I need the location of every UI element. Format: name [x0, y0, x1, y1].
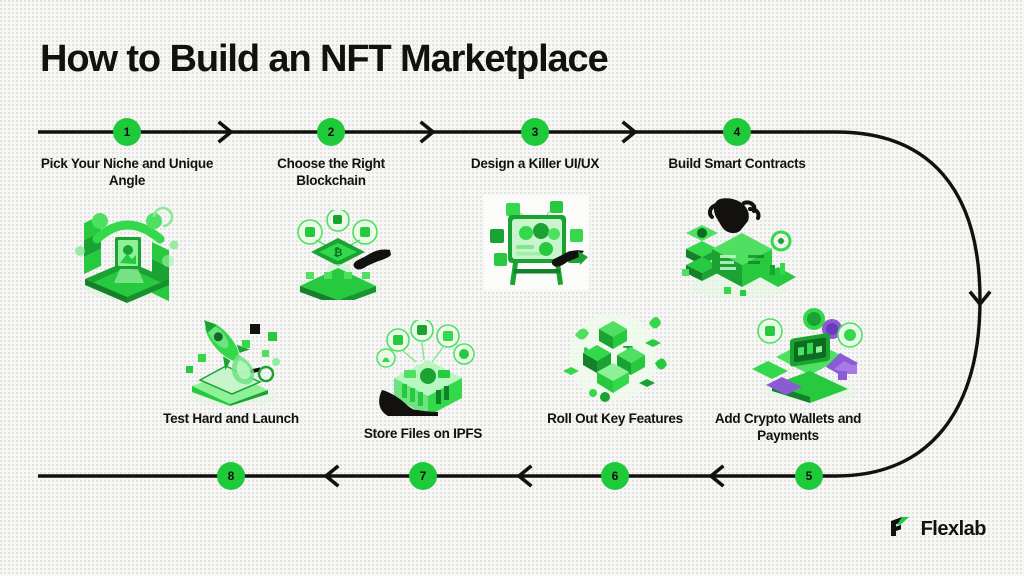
arrow-chevron-right: [422, 123, 433, 141]
arrow-chevron-down: [971, 293, 989, 304]
page-title: How to Build an NFT Marketplace: [40, 38, 608, 81]
step-number-badge: 2: [317, 118, 345, 146]
step-number-badge: 8: [217, 462, 245, 490]
step-label: Design a Killer UI/UX: [445, 155, 625, 172]
smart-contract-server-with-hand-illustration: [680, 195, 798, 300]
step-number-badge: 6: [601, 462, 629, 490]
brand-logo: Flexlab: [888, 515, 986, 544]
arrow-chevron-right: [624, 123, 635, 141]
blockchain-chip-with-hand-illustration: ₿: [286, 210, 391, 300]
nft-cube-cluster-illustration: N O T: [557, 305, 669, 405]
arrow-chevron-right: [220, 123, 231, 141]
arrow-chevron-left: [519, 467, 530, 485]
step-label: Store Files on IPFS: [333, 425, 513, 442]
nft-portal-archway-illustration: [72, 205, 182, 305]
design-easel-tablet-illustration: [484, 195, 589, 290]
step-label: Build Smart Contracts: [647, 155, 827, 172]
step-label: Roll Out Key Features: [525, 410, 705, 427]
rocket-launch-laptop-illustration: [182, 310, 288, 406]
step-label: Test Hard and Launch: [141, 410, 321, 427]
flexlab-mark-icon: [888, 515, 912, 544]
step-label: Pick Your Niche and Unique Angle: [37, 155, 217, 190]
step-label: Choose the Right Blockchain: [241, 155, 421, 190]
step-number-badge: 7: [409, 462, 437, 490]
step-number-badge: 1: [113, 118, 141, 146]
step-label: Add Crypto Wallets and Payments: [698, 410, 878, 445]
svg-text:₿: ₿: [334, 247, 343, 259]
step-number-badge: 5: [795, 462, 823, 490]
infographic-canvas: How to Build an NFT Marketplace 1 Pick: [0, 0, 1024, 576]
crypto-wallet-coins-illustration: [752, 305, 867, 403]
brand-name: Flexlab: [921, 518, 986, 541]
step-number-badge: 4: [723, 118, 751, 146]
ipfs-storage-hand-illustration: [376, 320, 480, 416]
step-number-badge: 3: [521, 118, 549, 146]
arrow-chevron-left: [711, 467, 722, 485]
arrow-chevron-left: [326, 467, 337, 485]
